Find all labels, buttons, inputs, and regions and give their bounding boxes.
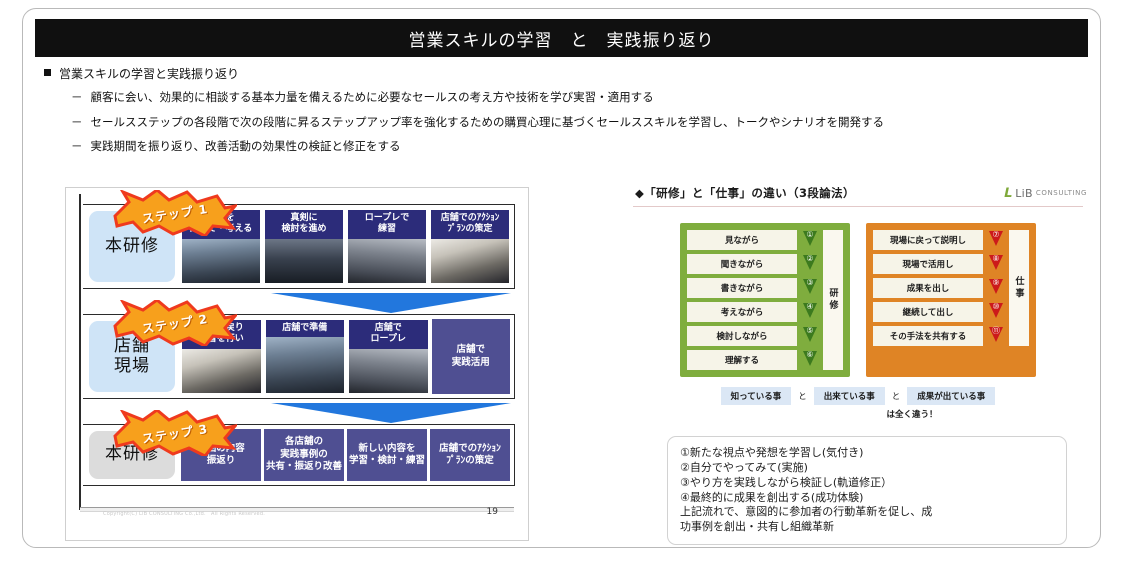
step-cell-header: 真剣に検討を進め (265, 210, 343, 239)
step-number-marker: ③ (801, 278, 819, 298)
work-item: 現場で活用し (873, 254, 983, 274)
step-number-label: ⑪ (992, 326, 1000, 336)
step-row-3: 本研修 前回の内容振返り 各店舗の実践事例の共有・振返り改善 新しい内容を学習・… (83, 424, 515, 486)
step-number-label: ⑩ (992, 302, 999, 312)
work-side-label: 仕事 (1009, 230, 1029, 346)
step-number-marker: ⑨ (987, 278, 1005, 298)
step-cells: 前回の内容振返り 各店舗の実践事例の共有・振返り改善 新しい内容を学習・検討・練… (181, 429, 510, 481)
note-line: 功事例を創出・共有し組織革新 (680, 520, 1054, 535)
step-cell-header: 店舗でロープレ (349, 320, 428, 349)
step-cell-solid: 店舗でのｱｸｼｮﾝﾌﾟﾗﾝの策定 (430, 429, 510, 481)
step-number-label: ⑧ (992, 254, 999, 264)
dash-bullet-icon: － (71, 114, 83, 131)
photo-fill (349, 349, 428, 394)
step-cells: 講義を聞いて・考える 真剣に検討を進め ロープレで練習 店舗でのｱｸｼｮﾝﾌﾟﾗ… (181, 209, 510, 284)
training-step-numbers: ① ② ③ ④ ⑤ ⑥ (801, 230, 819, 370)
step-cell-solid: 前回の内容振返り (181, 429, 261, 481)
step-number-label: ② (806, 254, 813, 264)
bullet-heading: 営業スキルの学習と実践振り返り (44, 65, 1085, 82)
step-number-marker: ④ (801, 302, 819, 322)
step-cell-photo (182, 239, 260, 284)
step-cells: 店舗に戻り復習を行い 店舗で準備 店舗でロープレ 店舗で実践活用 (181, 319, 510, 394)
step-lead-label: 店舗現場 (89, 321, 175, 392)
training-item: 見ながら (687, 230, 797, 250)
bullet-item: － セールスステップの各段階で次の段階に昇るステップアップ率を強化するための購買… (71, 114, 1085, 131)
right-panel: ◆「研修」と「仕事」の違い（3段論法） L LiB CONSULTING 見なが… (623, 185, 1093, 541)
step-number-marker: ① (801, 230, 819, 250)
step-number-marker: ⑤ (801, 326, 819, 346)
step-cell-photo (265, 239, 343, 284)
work-item: 現場に戻って説明し (873, 230, 983, 250)
step-diagram-inner: 本研修 講義を聞いて・考える 真剣に検討を進め ロープレで練習 (79, 194, 517, 510)
dash-bullet-icon: － (71, 89, 83, 106)
step-cell-photo (266, 337, 345, 393)
swoosh-icon: L (1002, 186, 1013, 201)
training-item: 書きながら (687, 278, 797, 298)
page-title: 営業スキルの学習 と 実践振り返り (409, 26, 715, 51)
photo-fill (266, 337, 345, 393)
slide-canvas: 営業スキルの学習 と 実践振り返り 営業スキルの学習と実践振り返り － 顧客に会… (22, 8, 1101, 548)
step-number-label: ⑦ (992, 230, 999, 240)
equation-row: 知っている事 と 出来ている事 と 成果が出ている事 (623, 387, 1093, 405)
note-line: ④最終的に成果を創出する(成功体験) (680, 491, 1054, 506)
dash-bullet-icon: － (71, 138, 83, 155)
step-cell: 店舗に戻り復習を行い (181, 319, 262, 394)
work-box-row: 現場に戻って説明し 現場で活用し 成果を出し 継続して出し その手法を共有する … (873, 230, 1029, 346)
equation-term: 出来ている事 (814, 387, 885, 405)
step-number-marker: ⑩ (987, 302, 1005, 322)
photo-fill (348, 239, 426, 284)
step-connector-arrow (271, 292, 511, 314)
embedded-footer: Copyright(C) LiB CONSULTING Co.,Ltd. All… (79, 510, 514, 524)
bullet-list: 営業スキルの学習と実践振り返り － 顧客に会い、効果的に相談する基本力量を備える… (35, 65, 1085, 163)
step-lead-label: 本研修 (89, 431, 175, 479)
training-side-label: 研修 (823, 230, 843, 370)
step-cell-photo (348, 239, 426, 284)
right-panel-header: ◆「研修」と「仕事」の違い（3段論法） L LiB CONSULTING (623, 185, 1093, 201)
step-number-label: ① (806, 230, 813, 240)
note-line: ③やり方を実践しながら検証し(軌道修正） (680, 476, 1054, 491)
step-cell-header: 店舗でのｱｸｼｮﾝﾌﾟﾗﾝの策定 (431, 210, 509, 239)
bullet-heading-label: 営業スキルの学習と実践振り返り (59, 65, 239, 82)
step-number-marker: ⑥ (801, 350, 819, 370)
photo-fill (431, 239, 509, 284)
step-cell-header: 店舗で準備 (266, 320, 345, 337)
step-cell: 真剣に検討を進め (264, 209, 344, 284)
training-item: 理解する (687, 350, 797, 370)
step-cell-header: 店舗に戻り復習を行い (182, 320, 261, 349)
step-cell-solid: 各店舗の実践事例の共有・振返り改善 (264, 429, 344, 481)
step-cell: ロープレで練習 (347, 209, 427, 284)
note-line: ②自分でやってみて(実施) (680, 461, 1054, 476)
bullet-item-label: 実践期間を振り返り、改善活動の効果性の検証と修正をする (91, 138, 401, 155)
step-number-label: ⑥ (806, 350, 813, 360)
work-items: 現場に戻って説明し 現場で活用し 成果を出し 継続して出し その手法を共有する (873, 230, 983, 346)
header-divider (633, 206, 1083, 207)
bullet-item-label: セールスステップの各段階で次の段階に昇るステップアップ率を強化するための購買心理… (91, 114, 885, 131)
step-number-label: ③ (806, 278, 813, 288)
bullet-item: － 実践期間を振り返り、改善活動の効果性の検証と修正をする (71, 138, 1085, 155)
work-side-label-text: 仕事 (1013, 276, 1026, 300)
page-number: 19 (487, 507, 498, 517)
photo-fill (182, 239, 260, 284)
work-step-numbers: ⑦ ⑧ ⑨ ⑩ ⑪ (987, 230, 1005, 346)
training-box: 見ながら 聞きながら 書きながら 考えながら 検討しながら 理解する ① ② ③… (680, 223, 850, 377)
slide-title-bar: 営業スキルの学習 と 実践振り返り (35, 19, 1088, 57)
comparison-boxes: 見ながら 聞きながら 書きながら 考えながら 検討しながら 理解する ① ② ③… (623, 223, 1093, 377)
step-number-label: ⑤ (806, 326, 813, 336)
training-item: 聞きながら (687, 254, 797, 274)
step-cell-header: ロープレで練習 (348, 210, 426, 239)
step-cell-photo (431, 239, 509, 284)
embedded-step-diagram: 本研修 講義を聞いて・考える 真剣に検討を進め ロープレで練習 (65, 187, 529, 541)
work-item: 継続して出し (873, 302, 983, 322)
training-side-label-text: 研修 (827, 288, 840, 312)
equation-term: 知っている事 (721, 387, 792, 405)
work-item: 成果を出し (873, 278, 983, 298)
equation-tail: は全く違う！ (731, 408, 1093, 420)
right-panel-heading: ◆「研修」と「仕事」の違い（3段論法） (635, 185, 855, 201)
photo-fill (182, 349, 261, 394)
note-line: ①新たな視点や発想を学習し(気付き) (680, 446, 1054, 461)
training-item: 検討しながら (687, 326, 797, 346)
notes-box: ①新たな視点や発想を学習し(気付き) ②自分でやってみて(実施) ③やり方を実践… (667, 436, 1067, 545)
step-row-2: 店舗現場 店舗に戻り復習を行い 店舗で準備 店舗でロープレ 店舗で実践活用 (83, 314, 515, 399)
step-number-label: ⑨ (992, 278, 999, 288)
copyright-label: Copyright(C) LiB CONSULTING Co.,Ltd. All… (103, 510, 265, 517)
step-cell-solid: 新しい内容を学習・検討・練習 (347, 429, 427, 481)
step-lead-label: 本研修 (89, 211, 175, 282)
step-cell: 店舗でのｱｸｼｮﾝﾌﾟﾗﾝの策定 (430, 209, 510, 284)
step-cell: 講義を聞いて・考える (181, 209, 261, 284)
step-cell: 店舗で準備 (265, 319, 346, 394)
logo-name: LiB (1015, 187, 1033, 200)
equation-connector: と (892, 390, 901, 402)
bullet-item-label: 顧客に会い、効果的に相談する基本力量を備えるために必要なセールスの考え方や技術を… (91, 89, 654, 106)
step-number-marker: ⑪ (987, 326, 1005, 346)
equation-term: 成果が出ている事 (907, 387, 995, 405)
step-number-label: ④ (806, 302, 813, 312)
step-connector-arrow (271, 402, 511, 424)
photo-fill (265, 239, 343, 284)
step-cell: 店舗でロープレ (348, 319, 429, 394)
work-item: その手法を共有する (873, 326, 983, 346)
step-cell-photo (349, 349, 428, 394)
bullet-item: － 顧客に会い、効果的に相談する基本力量を備えるために必要なセールスの考え方や技… (71, 89, 1085, 106)
logo-suffix: CONSULTING (1036, 189, 1087, 197)
step-number-marker: ② (801, 254, 819, 274)
work-box: 現場に戻って説明し 現場で活用し 成果を出し 継続して出し その手法を共有する … (866, 223, 1036, 377)
equation-connector: と (798, 390, 807, 402)
note-line: 上記流れで、意図的に参加者の行動革新を促し、成 (680, 505, 1054, 520)
lib-consulting-logo: L LiB CONSULTING (1004, 186, 1087, 201)
training-box-row: 見ながら 聞きながら 書きながら 考えながら 検討しながら 理解する ① ② ③… (687, 230, 843, 370)
square-bullet-icon (44, 69, 51, 76)
step-number-marker: ⑦ (987, 230, 1005, 250)
step-cell-solid: 店舗で実践活用 (432, 319, 511, 394)
training-item: 考えながら (687, 302, 797, 322)
step-cell-photo (182, 349, 261, 394)
step-number-marker: ⑧ (987, 254, 1005, 274)
step-cell-header: 講義を聞いて・考える (182, 210, 260, 239)
step-row-1: 本研修 講義を聞いて・考える 真剣に検討を進め ロープレで練習 (83, 204, 515, 289)
training-items: 見ながら 聞きながら 書きながら 考えながら 検討しながら 理解する (687, 230, 797, 370)
